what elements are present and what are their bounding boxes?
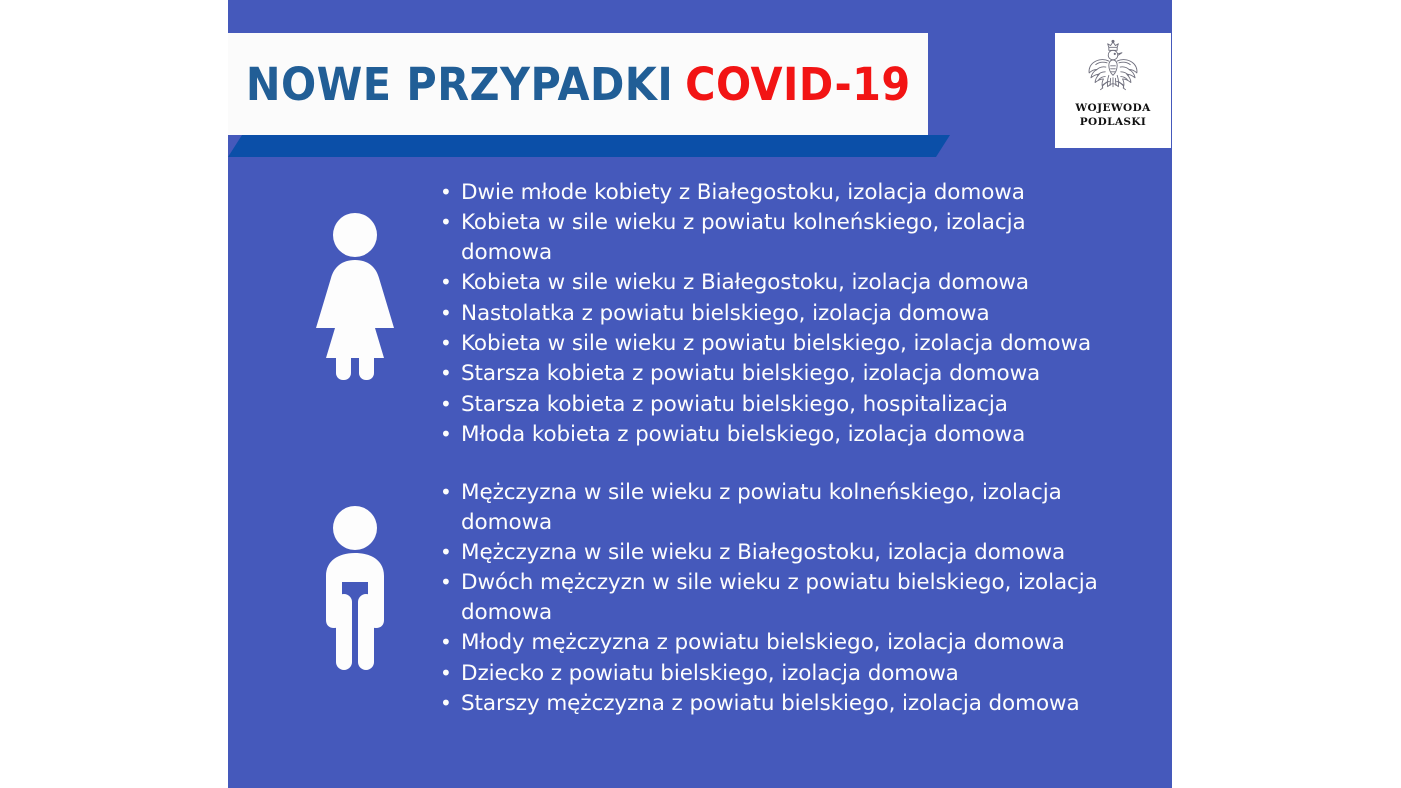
list-item: Dwóch mężczyzn w sile wieku z powiatu bi… [438,568,1112,628]
list-item: Starszy mężczyzna z powiatu bielskiego, … [438,689,1112,719]
list-item: Kobieta w sile wieku z powiatu kolneński… [438,208,1112,268]
list-item: Mężczyzna w sile wieku z powiatu kolneńs… [438,478,1112,538]
list-item: Nastolatka z powiatu bielskiego, izolacj… [438,299,1112,329]
case-list-men: Mężczyzna w sile wieku z powiatu kolneńs… [438,478,1112,719]
list-item: Mężczyzna w sile wieku z Białegostoku, i… [438,538,1112,568]
female-pictogram-column [272,178,438,380]
list-item: Starsza kobieta z powiatu bielskiego, iz… [438,359,1112,389]
logo-line-1: WOJEWODA [1075,101,1150,115]
list-item: Kobieta w sile wieku z Białegostoku, izo… [438,268,1112,298]
wojewoda-logo-card: WOJEWODA PODLASKI [1055,33,1171,148]
list-item: Młoda kobieta z powiatu bielskiego, izol… [438,420,1112,450]
list-item: Kobieta w sile wieku z powiatu bielskieg… [438,329,1112,359]
page-title: NOWE PRZYPADKICOVID-19 [246,62,911,107]
female-pictogram-icon [313,210,397,380]
page-title-highlight: COVID-19 [685,58,911,111]
page-title-main: NOWE PRZYPADKI [246,58,673,111]
title-ribbon [228,135,950,157]
list-item: Młody mężczyzna z powiatu bielskiego, iz… [438,628,1112,658]
case-list-women: Dwie młode kobiety z Białegostoku, izola… [438,178,1112,450]
group-women: Dwie młode kobiety z Białegostoku, izola… [272,178,1112,450]
list-item: Dziecko z powiatu bielskiego, izolacja d… [438,659,1112,689]
logo-line-2: PODLASKI [1080,115,1147,129]
group-men: Mężczyzna w sile wieku z powiatu kolneńs… [272,478,1112,719]
list-item: Starsza kobieta z powiatu bielskiego, ho… [438,390,1112,420]
male-pictogram-icon [315,504,395,670]
polish-eagle-emblem-icon [1083,39,1143,101]
male-pictogram-column [272,478,438,670]
title-plate: NOWE PRZYPADKICOVID-19 [228,33,928,135]
infographic-canvas: NOWE PRZYPADKICOVID-19 [0,0,1401,788]
list-item: Dwie młode kobiety z Białegostoku, izola… [438,178,1112,208]
